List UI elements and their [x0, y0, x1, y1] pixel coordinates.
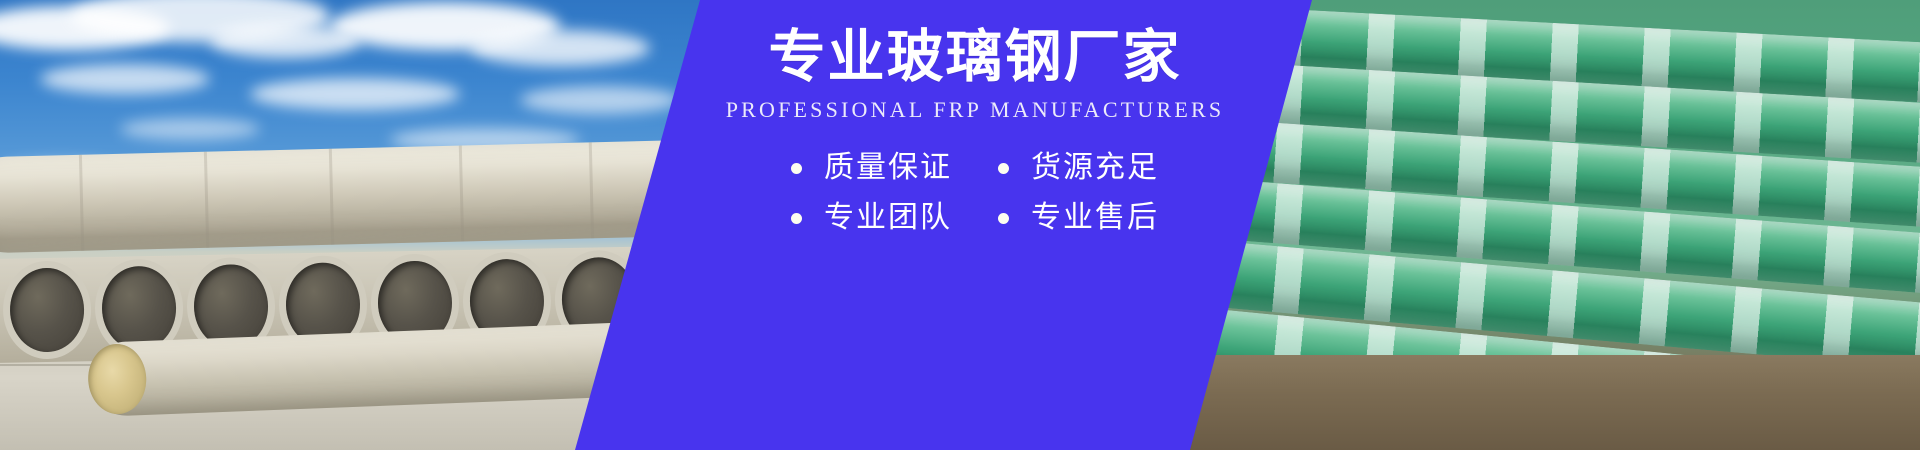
dirt-ground: [1120, 355, 1920, 450]
promo-banner: 专业玻璃钢厂家 PROFESSIONAL FRP MANUFACTURERS 质…: [0, 0, 1920, 450]
pipe-large-top: [0, 138, 720, 254]
dot-bullet-icon: [791, 213, 802, 224]
feature-label: 货源充足: [1031, 153, 1159, 183]
subtitle-english: PROFESSIONAL FRP MANUFACTURERS: [726, 97, 1225, 123]
dot-bullet-icon: [998, 163, 1009, 174]
feature-label: 质量保证: [824, 153, 952, 183]
feature-label: 专业售后: [1031, 203, 1159, 233]
cloud-shape: [250, 78, 460, 110]
cloud-shape: [120, 118, 260, 140]
cloud-shape: [40, 64, 210, 94]
cloud-shape: [470, 30, 650, 66]
feature-item-team: 专业团队: [791, 203, 952, 233]
dot-bullet-icon: [791, 163, 802, 174]
feature-item-quality: 质量保证: [791, 153, 952, 183]
feature-label: 专业团队: [824, 203, 952, 233]
feature-list: 质量保证 货源充足 专业团队 专业售后: [791, 153, 1159, 233]
feature-item-aftersales: 专业售后: [998, 203, 1159, 233]
page-title: 专业玻璃钢厂家: [769, 24, 1182, 91]
feature-item-supply: 货源充足: [998, 153, 1159, 183]
dot-bullet-icon: [998, 213, 1009, 224]
cloud-shape: [520, 86, 680, 114]
